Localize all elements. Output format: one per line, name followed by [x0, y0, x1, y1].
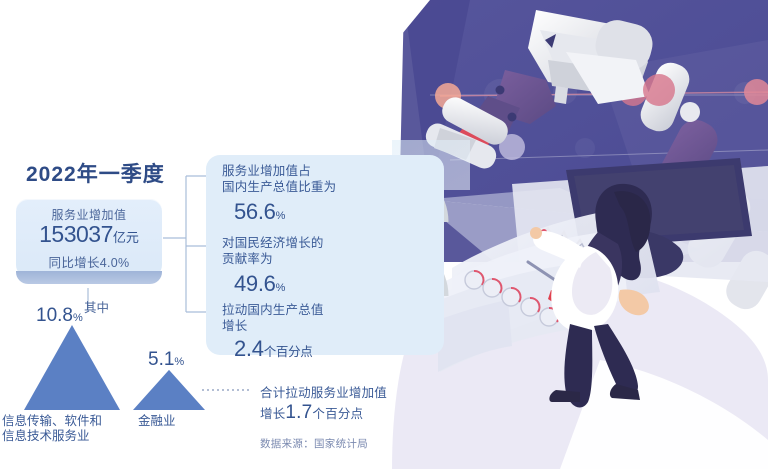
metric-value-2-suffix: 个百分点	[264, 345, 313, 359]
metric-caption-2-line1: 拉动国内生产总值	[222, 303, 324, 319]
metric-value-1-number: 49.6	[234, 271, 276, 296]
footer-summary-line2: 增长1.7个百分点	[260, 403, 387, 424]
page-title: 2022年一季度	[26, 158, 165, 188]
industry-label-1-line1: 金融业	[138, 414, 176, 429]
metric-caption-1-line2: 贡献率为	[222, 252, 324, 268]
metric-value-0-symbol: %	[276, 210, 285, 222]
main-card-number: 153037	[39, 221, 113, 247]
industry-value-1: 5.1%	[148, 349, 184, 371]
metric-value-2-number: 2.4	[234, 336, 264, 361]
triangle-bar-0	[24, 325, 120, 410]
metric-value-0: 56.6%	[234, 199, 336, 225]
metric-block-0: 服务业增加值占 国内生产总值比重为 56.6%	[222, 164, 336, 225]
metric-caption-2-line2: 增长	[222, 319, 324, 335]
main-card-unit: 亿元	[113, 230, 139, 245]
metric-value-0-number: 56.6	[234, 199, 276, 224]
footer-summary: 合计拉动服务业增加值 增长1.7个百分点	[260, 384, 387, 424]
data-source: 数据来源：国家统计局	[260, 436, 368, 451]
qizhong-label: 其中	[84, 297, 109, 316]
metric-caption-0-line2: 国内生产总值比重为	[222, 180, 336, 196]
metric-value-2: 2.4个百分点	[234, 336, 324, 362]
main-value-card-base	[16, 271, 162, 284]
bracket-connector	[163, 176, 210, 312]
infographic-canvas: 2022年一季度 服务业增加值 153037亿元 同比增长4.0% 其中 10.…	[0, 0, 768, 469]
industry-value-1-number: 5.1	[148, 349, 174, 370]
main-card-growth: 同比增长4.0%	[16, 252, 162, 271]
triangle-bar-1	[133, 370, 205, 410]
industry-value-0: 10.8%	[36, 305, 83, 327]
metric-block-1: 对国民经济增长的 贡献率为 49.6%	[222, 236, 324, 297]
metric-block-2: 拉动国内生产总值 增长 2.4个百分点	[222, 303, 324, 362]
industry-label-0: 信息传输、软件和 信息技术服务业	[2, 414, 102, 444]
industry-label-0-line2: 信息技术服务业	[2, 429, 102, 444]
industry-label-0-line1: 信息传输、软件和	[2, 414, 102, 429]
industry-value-1-symbol: %	[174, 356, 184, 368]
main-card-value: 153037亿元	[16, 221, 162, 248]
footer-summary-line1: 合计拉动服务业增加值	[260, 384, 387, 403]
industry-label-1: 金融业	[138, 414, 176, 429]
footer-line2-prefix: 增长	[260, 407, 285, 421]
industry-value-0-symbol: %	[73, 312, 83, 324]
metric-caption-1-line1: 对国民经济增长的	[222, 236, 324, 252]
metric-value-1-symbol: %	[276, 282, 285, 294]
metric-caption-0-line1: 服务业增加值占	[222, 164, 336, 180]
metric-value-1: 49.6%	[234, 271, 324, 297]
industry-value-0-number: 10.8	[36, 305, 73, 326]
footer-line2-suffix: 个百分点	[312, 407, 363, 421]
footer-line2-number: 1.7	[285, 402, 312, 423]
